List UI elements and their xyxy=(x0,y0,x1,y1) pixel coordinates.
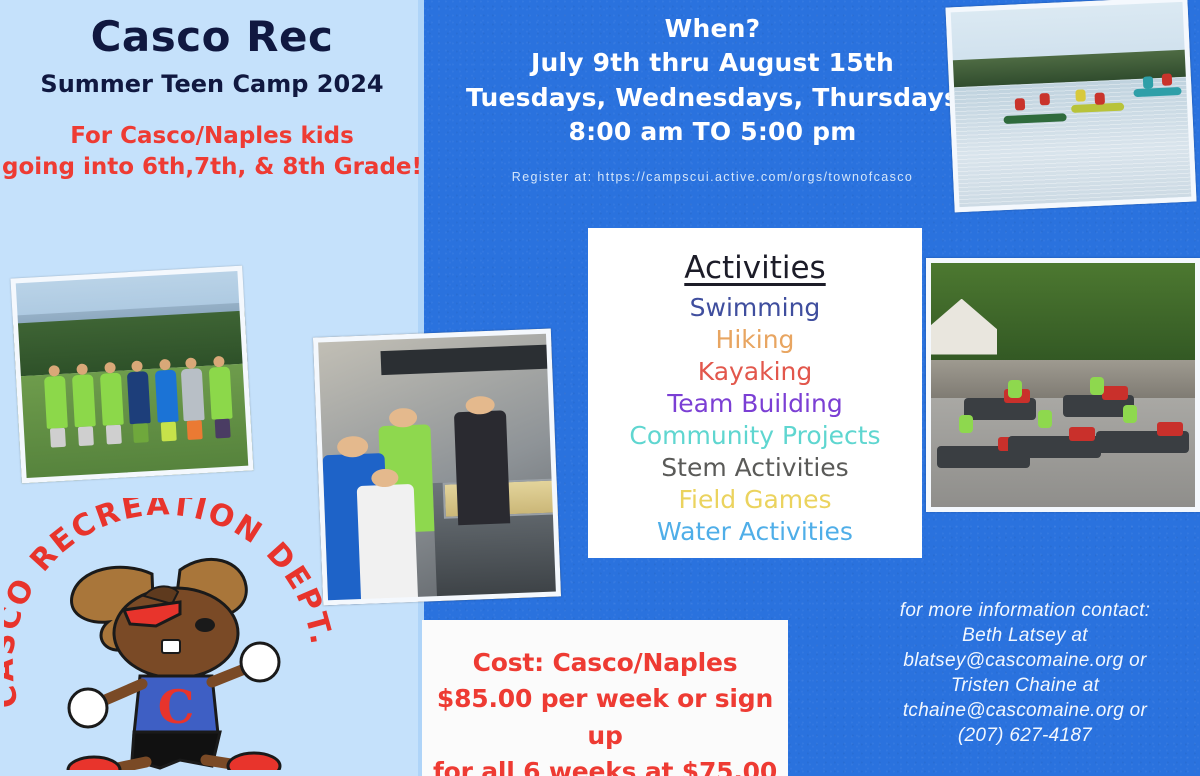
moose-sneaker-right xyxy=(228,753,280,770)
photo-camper-group xyxy=(10,266,253,484)
jersey-letter: C xyxy=(158,680,195,734)
photo-frame xyxy=(945,0,1196,212)
activities-card: Activities Swimming Hiking Kayaking Team… xyxy=(588,228,922,558)
moose-nostril xyxy=(195,618,215,632)
page-subtitle: Summer Teen Camp 2024 xyxy=(0,70,424,99)
moose-teeth xyxy=(162,640,180,653)
flyer-canvas: Casco Rec Summer Teen Camp 2024 For Casc… xyxy=(0,0,1200,776)
when-hours: 8:00 am TO 5:00 pm xyxy=(440,115,985,149)
contact-info: for more information contact: Beth Latse… xyxy=(855,598,1195,748)
registration-link[interactable]: Register at: https://campscui.active.com… xyxy=(440,170,985,184)
moose-glove-right xyxy=(241,643,279,681)
activity-item-field-games: Field Games xyxy=(588,484,922,516)
photo-frame xyxy=(313,329,561,606)
photo-frame xyxy=(926,258,1200,512)
activity-item-water-activities: Water Activities xyxy=(588,516,922,548)
header-block: Casco Rec Summer Teen Camp 2024 For Casc… xyxy=(0,14,424,183)
activity-item-hiking: Hiking xyxy=(588,324,922,356)
activity-item-kayaking: Kayaking xyxy=(588,356,922,388)
activity-item-swimming: Swimming xyxy=(588,292,922,324)
activity-item-community-projects: Community Projects xyxy=(588,420,922,452)
when-dates: July 9th thru August 15th xyxy=(440,46,985,80)
photo-go-karts xyxy=(926,258,1200,512)
moose-mascot-icon: CASCO RECREATION DEPT. C xyxy=(4,498,334,770)
when-days: Tuesdays, Wednesdays, Thursdays xyxy=(440,81,985,115)
photo-frame xyxy=(10,266,253,484)
page-title: Casco Rec xyxy=(0,14,424,60)
photo-kayaking xyxy=(945,0,1196,212)
when-heading: When? xyxy=(440,12,985,46)
activities-title: Activities xyxy=(588,250,922,286)
activity-item-team-building: Team Building xyxy=(588,388,922,420)
eligibility-text: For Casco/Naples kids going into 6th,7th… xyxy=(0,121,424,183)
activity-item-stem-activities: Stem Activities xyxy=(588,452,922,484)
photo-kitchen xyxy=(313,329,561,606)
casco-recreation-logo: CASCO RECREATION DEPT. C xyxy=(4,498,334,770)
activities-list: Swimming Hiking Kayaking Team Building C… xyxy=(588,292,922,548)
when-block: When? July 9th thru August 15th Tuesdays… xyxy=(440,12,985,149)
cost-card: Cost: Casco/Naples $85.00 per week or si… xyxy=(422,620,788,776)
moose-glove-left xyxy=(69,689,107,727)
moose-sneaker-left xyxy=(68,757,120,770)
cost-text: Cost: Casco/Naples $85.00 per week or si… xyxy=(422,620,788,776)
